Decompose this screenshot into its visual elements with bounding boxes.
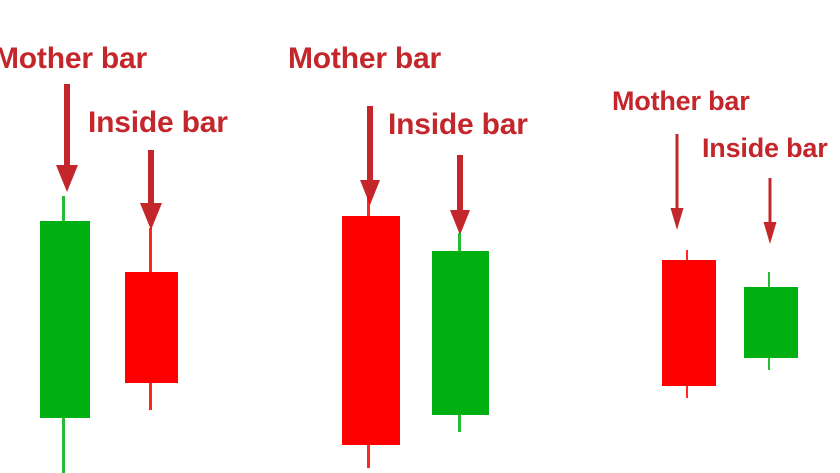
candle-body [342, 216, 400, 445]
label-inside-bar-3: Inside bar [702, 135, 828, 162]
candle-body [432, 251, 489, 415]
candle-mother-bar-1 [40, 196, 90, 473]
candle-inside-bar-2 [432, 233, 489, 432]
candle-mother-bar-2 [342, 196, 400, 468]
arrow-to-mother-bar-2 [360, 106, 380, 205]
candle-inside-bar-3 [744, 272, 798, 370]
arrow-to-inside-bar-1 [140, 150, 162, 230]
arrow-to-mother-bar-3 [670, 134, 684, 230]
label-mother-bar-2: Mother bar [288, 44, 441, 74]
label-inside-bar-2: Inside bar [388, 110, 528, 140]
inside-bar-diagram: Mother bar Inside bar Mother bar Inside … [0, 0, 840, 473]
label-inside-bar-1: Inside bar [88, 108, 228, 138]
label-mother-bar-3: Mother bar [612, 88, 750, 115]
candle-body [662, 260, 716, 386]
label-mother-bar-1: Mother bar [0, 44, 147, 74]
candle-inside-bar-1 [125, 228, 178, 410]
candle-mother-bar-3 [662, 250, 716, 398]
candle-body [125, 272, 178, 383]
arrow-to-mother-bar-1 [56, 84, 78, 192]
candle-body [744, 287, 798, 358]
candle-body [40, 221, 90, 418]
arrow-to-inside-bar-2 [450, 155, 470, 235]
arrow-to-inside-bar-3 [763, 178, 777, 244]
